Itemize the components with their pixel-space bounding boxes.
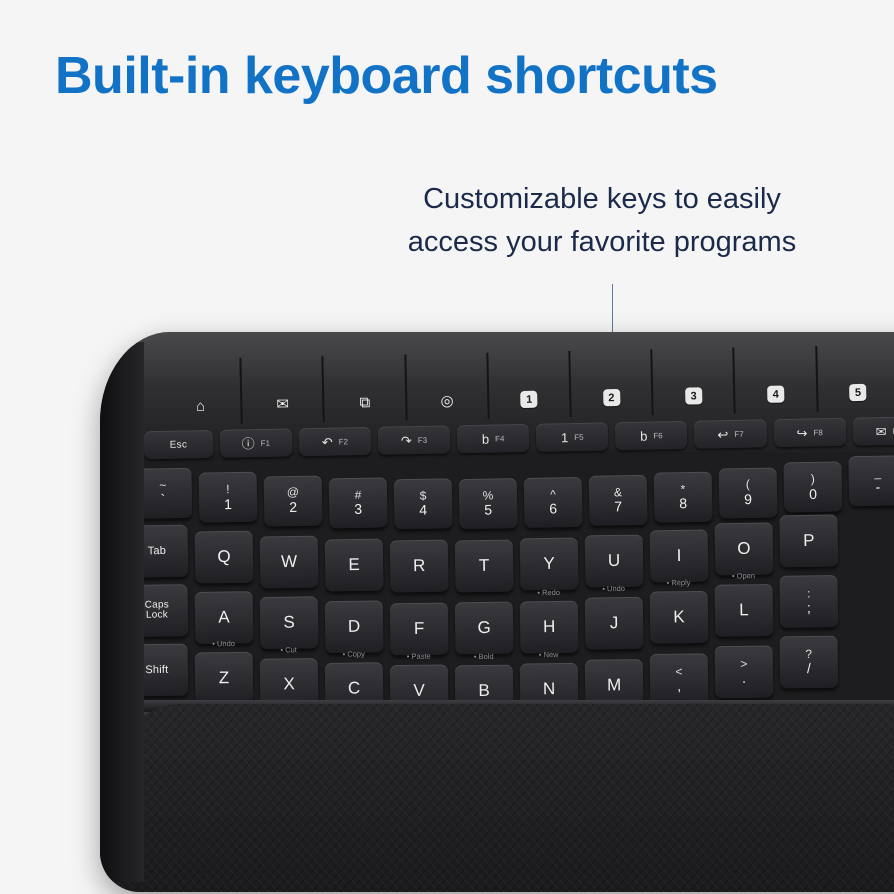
custom-key-2[interactable]: 2 [568, 349, 652, 417]
custom-key-5[interactable]: 5 [815, 344, 894, 412]
media-icon: ◎ [440, 391, 453, 409]
f4-key[interactable]: ὜bF4 [457, 424, 530, 453]
f2-key-icon: ↶ [322, 435, 333, 448]
o-key[interactable]: O [715, 523, 774, 576]
semicolon-key-label: ; [807, 601, 811, 616]
q-key[interactable]: Q [195, 531, 254, 584]
f6-key-fn-label: F6 [653, 431, 663, 440]
minus-key-shift-label: _ [874, 467, 881, 480]
f1-key[interactable]: ⓘF1 [220, 428, 293, 457]
media-hotkey[interactable]: ◎ [404, 353, 488, 421]
f8-key-fn-label: F8 [813, 428, 823, 437]
comma-key[interactable]: <, [650, 653, 709, 706]
custom-key-4[interactable]: 4 [733, 346, 817, 414]
mail-hotkey[interactable]: ✉ [240, 356, 324, 424]
f4-key-fn-label: F4 [495, 434, 505, 443]
shift-key-label: Shift [145, 664, 168, 676]
f7-key[interactable]: ↩F7 [694, 419, 767, 448]
tab-key-label: Tab [148, 545, 167, 557]
i-key[interactable]: I [650, 529, 709, 582]
callout-line-2: access your favorite programs [352, 221, 852, 264]
f5-key-fn-label: F5 [574, 432, 584, 441]
callout-text: Customizable keys to easily access your … [352, 178, 852, 264]
page-title: Built-in keyboard shortcuts [55, 46, 718, 106]
seven-key-label: 7 [614, 499, 622, 514]
n-key-label: N [543, 679, 556, 699]
palm-rest [100, 704, 894, 892]
f6-key[interactable]: ὚bF6 [615, 421, 688, 450]
s-key-label: S [283, 613, 295, 633]
x-key-shortcut-hint: Cut [280, 645, 296, 654]
custom-key-3-label: 3 [685, 387, 702, 404]
f3-key[interactable]: ↷F3 [378, 425, 451, 454]
o-key-label: O [737, 539, 751, 559]
seven-key-shift-label: & [614, 486, 622, 499]
j-key-shortcut-hint: Undo [602, 584, 625, 593]
f8-key[interactable]: ↪F8 [773, 418, 846, 447]
three-key-label: 3 [354, 502, 362, 517]
f3-key-icon: ↷ [401, 434, 412, 447]
five-key-label: 5 [484, 503, 492, 518]
nine-key-shift-label: ( [746, 478, 750, 491]
custom-key-1-label: 1 [521, 391, 538, 408]
c-key-label: C [348, 678, 361, 698]
f1-key-icon: ⓘ [242, 437, 255, 450]
hotkey-strip: ⌂✉⧉◎12345★ [160, 347, 894, 420]
z-key[interactable]: ZUndo [195, 652, 254, 705]
two-key-shift-label: @ [287, 486, 299, 499]
keyboard-image: ⌂✉⧉◎12345★ EscⓘF1↶F2↷F3὜bF4὜1F5὚bF6↩F7↪F… [100, 332, 894, 894]
nine-key[interactable]: (9 [719, 467, 778, 518]
f7-key-fn-label: F7 [734, 429, 744, 438]
f5-key-icon: ὜1 [561, 431, 568, 444]
n-key-shortcut-hint: New [539, 650, 559, 659]
k-key-label: K [673, 607, 685, 627]
v-key-shortcut-hint: Paste [407, 651, 431, 660]
f7-key-icon: ↩ [717, 428, 728, 441]
esc-key-label: Esc [170, 439, 188, 450]
z-key-shortcut-hint: Undo [212, 639, 235, 648]
f8-key-icon: ↪ [796, 426, 807, 439]
j-key-label: J [610, 613, 619, 633]
callout-line-1: Customizable keys to easily [423, 183, 781, 215]
eight-key-label: 8 [679, 496, 687, 511]
slash-key-label: / [807, 661, 811, 676]
b-key-shortcut-hint: Bold [474, 652, 494, 661]
h-key-label: H [543, 616, 556, 636]
y-key-label: Y [543, 554, 555, 574]
three-key[interactable]: #3 [329, 477, 388, 528]
nine-key-label: 9 [744, 492, 752, 507]
one-key-shift-label: ! [226, 483, 230, 496]
semicolon-key[interactable]: :; [779, 575, 838, 628]
zero-key-shift-label: ) [811, 473, 815, 486]
b-key-label: B [478, 681, 490, 701]
one-key[interactable]: !1 [199, 472, 258, 523]
m-key-label: M [607, 675, 621, 695]
keyboard-left-edge [100, 342, 144, 882]
l-key-label: L [739, 600, 749, 620]
p-key-label: P [803, 531, 815, 551]
backtick-key-shift-label: ~ [159, 479, 166, 492]
c-key-shortcut-hint: Copy [343, 649, 365, 658]
mail-icon: ✉ [276, 395, 289, 413]
u-key-label: U [608, 551, 621, 571]
t-key-label: T [479, 556, 490, 576]
semicolon-key-shift-label: : [807, 587, 811, 600]
custom-key-3[interactable]: 3 [651, 348, 735, 416]
product-image-canvas: Built-in keyboard shortcuts Customizable… [0, 0, 894, 894]
k-key-shortcut-hint: Reply [667, 578, 691, 587]
zero-key[interactable]: )0 [783, 462, 842, 513]
minus-key[interactable]: _- [848, 455, 894, 506]
f4-key-icon: ὜b [482, 432, 489, 445]
home-hotkey[interactable]: ⌂ [159, 358, 241, 426]
custom-key-2-label: 2 [603, 389, 620, 406]
esc-key[interactable]: Esc [144, 430, 213, 459]
minus-key-label: - [875, 480, 880, 495]
custom-key-5-label: 5 [849, 384, 866, 401]
f-key-label: F [414, 618, 425, 638]
l-key-shortcut-hint: Open [732, 571, 755, 580]
a-key-label: A [218, 608, 230, 628]
slash-key-shift-label: ? [805, 648, 812, 661]
two-key[interactable]: @2 [264, 475, 323, 526]
w-key[interactable]: W [260, 535, 319, 588]
comma-key-shift-label: < [675, 665, 682, 678]
four-key-shift-label: $ [420, 489, 427, 502]
w-key-label: W [281, 552, 297, 572]
f1-key-fn-label: F1 [261, 438, 271, 447]
v-key-label: V [413, 680, 425, 700]
i-key-label: I [676, 546, 681, 566]
z-key-label: Z [219, 668, 230, 688]
apps-icon: ⧉ [359, 394, 370, 411]
keyboard-chassis: ⌂✉⧉◎12345★ EscⓘF1↶F2↷F3὜bF4὜1F5὚bF6↩F7↪F… [100, 332, 894, 892]
h-key-shortcut-hint: Redo [537, 587, 560, 596]
period-key-shift-label: > [740, 658, 747, 671]
three-key-shift-label: # [355, 488, 362, 501]
f2-key-fn-label: F2 [339, 437, 349, 446]
apps-hotkey[interactable]: ⧉ [322, 354, 406, 422]
custom-key-4-label: 4 [767, 386, 784, 403]
k-key[interactable]: KReply [650, 591, 709, 644]
slash-key[interactable]: ?/ [780, 636, 839, 689]
e-key-label: E [348, 555, 360, 575]
l-key[interactable]: LOpen [715, 584, 774, 637]
period-key[interactable]: >. [715, 645, 774, 698]
x-key-label: X [283, 674, 295, 694]
comma-key-label: , [677, 679, 681, 694]
custom-key-1[interactable]: 1 [486, 351, 570, 419]
six-key-shift-label: ^ [550, 488, 556, 501]
eight-key[interactable]: *8 [654, 471, 713, 522]
home-icon: ⌂ [196, 398, 205, 415]
caps-lock-key-label-2: Lock [146, 610, 168, 621]
six-key-label: 6 [549, 502, 557, 517]
p-key[interactable]: P [779, 514, 838, 567]
five-key-shift-label: % [483, 489, 494, 502]
f5-key[interactable]: ὜1F5 [536, 422, 609, 451]
f9-key-icon: ✉ [875, 425, 886, 438]
d-key-label: D [348, 616, 361, 636]
f9-key[interactable]: ✉F9 [852, 416, 894, 445]
two-key-label: 2 [289, 500, 297, 515]
four-key-label: 4 [419, 503, 427, 518]
backtick-key-label: ` [161, 493, 166, 508]
zero-key-label: 0 [809, 487, 817, 502]
f6-key-icon: ὚b [640, 429, 647, 442]
period-key-label: . [742, 671, 746, 686]
f3-key-fn-label: F3 [418, 435, 428, 444]
eight-key-shift-label: * [680, 483, 685, 496]
g-key-label: G [477, 618, 491, 638]
f2-key[interactable]: ↶F2 [299, 427, 372, 456]
r-key-label: R [413, 556, 426, 576]
a-key[interactable]: A [195, 591, 254, 644]
one-key-label: 1 [224, 497, 232, 512]
q-key-label: Q [217, 547, 231, 567]
